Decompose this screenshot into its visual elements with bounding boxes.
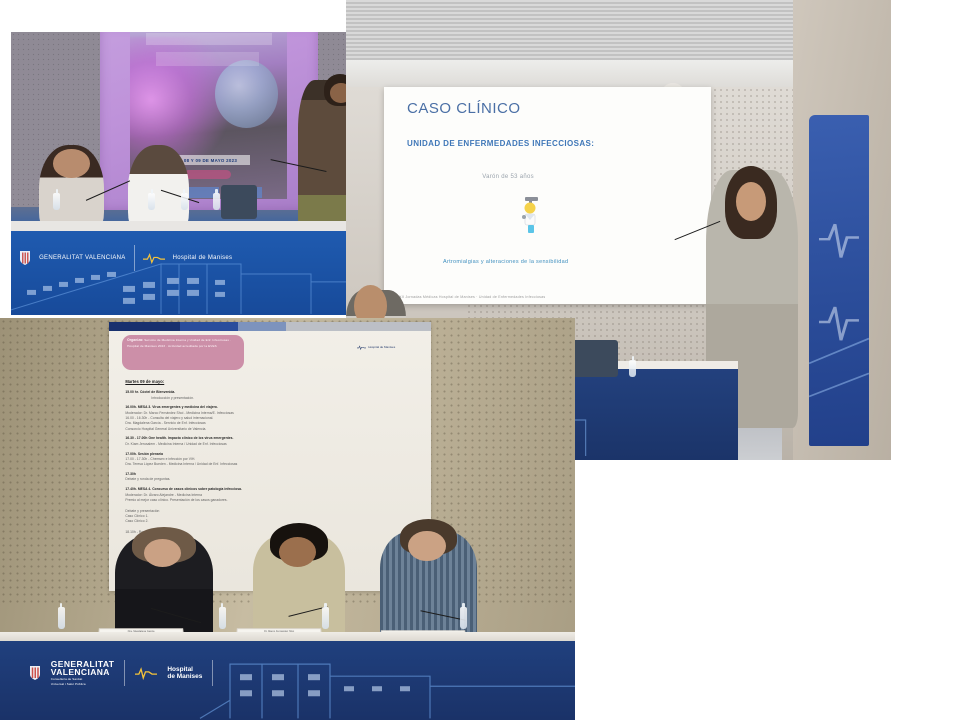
document-hospital-logo: Hospital de Manises: [357, 338, 415, 357]
heartbeat-icon: [357, 344, 366, 351]
program-entry-title: MESA 4. Concurso de casos clínicos sobre…: [138, 487, 242, 491]
hospital-logo-text: Hospital de Manises: [173, 255, 233, 261]
logo-divider-1: [124, 660, 125, 686]
banner-logos: GENERALITAT VALENCIANA Conselleria de Sa…: [29, 657, 214, 689]
water-bottle-2: [148, 193, 155, 210]
program-entry-time: 17.30h: [125, 472, 136, 476]
water-bottle-1: [58, 607, 65, 629]
program-entry: 17.00h. Sesión plenaria17.00 - 17.30h - …: [125, 452, 415, 468]
poster-orb-graphic: [215, 60, 278, 128]
chair-back-1: [221, 185, 257, 219]
program-entry-title: Cóctel de Bienvenida.: [140, 390, 175, 394]
document-logo-text: Hospital de Manises: [368, 346, 395, 349]
panel-table-banner: GENERALITAT VALENCIANA Conselleria de Sa…: [0, 640, 575, 720]
photo-collage-canvas: 08 Y 09 DE MAYO 2023: [0, 0, 960, 720]
roll-up-banner: [809, 115, 869, 446]
program-entry-line: Introducción y presentación.: [125, 396, 415, 401]
presentation-screen: CASO CLÍNICO UNIDAD DE ENFERMEDADES INFE…: [384, 87, 711, 303]
logo-divider-2: [212, 660, 213, 686]
program-entry-list: 15.00 hr. Cóctel de Bienvenida.Introducc…: [125, 390, 415, 535]
table-banner-logos: GENERALITAT VALENCIANA Hospital de Manis…: [19, 244, 232, 273]
slide-title: CASO CLÍNICO: [407, 100, 521, 117]
hm-line2: de Manises: [167, 673, 202, 680]
standing-speaker-face: [736, 182, 766, 221]
organizer-note: Organiza: Servicio de Medicina Interna y…: [122, 335, 244, 370]
slide-subtitle: UNIDAD DE ENFERMEDADES INFECCIOSAS:: [407, 139, 594, 148]
poster-subtitle-band: [156, 52, 260, 66]
slide-footer-line: Artromialgias y alteraciones de la sensi…: [443, 259, 568, 265]
water-bottle-4: [213, 193, 220, 210]
program-entry-line: Debate y ronda de preguntas.: [125, 477, 415, 482]
panelist-face: [53, 149, 89, 178]
chair-back-2: [569, 340, 618, 377]
panelist-right-face: [408, 531, 445, 561]
water-bottle-1: [53, 193, 60, 210]
generalitat-logo-text: GENERALITAT VALENCIANA Conselleria de Sa…: [51, 660, 115, 687]
program-entry: 17.30h Debate y ronda de preguntas.: [125, 472, 415, 483]
program-entry-line: Consorcio Hospital General Universitario…: [125, 427, 415, 432]
logo-divider: [134, 245, 135, 271]
program-entry-title: Sesión plenaria: [138, 452, 163, 456]
banner-building-art: [809, 115, 869, 446]
generalitat-shield-icon: [19, 250, 31, 266]
poster-registration-badge: [184, 170, 231, 178]
program-entry-title: One health. Impacto clínico de los virus…: [148, 436, 233, 440]
program-entry: 15.00 hr. Cóctel de Bienvenida.Introducc…: [125, 390, 415, 401]
gv-line2: VALENCIANA: [51, 668, 115, 677]
water-bottle-3: [181, 193, 188, 210]
program-entry: 16.30 - 17.00h One health. Impacto clíni…: [125, 436, 415, 447]
poster-title-band: [146, 33, 272, 45]
doctor-illustration-icon: [518, 195, 544, 235]
water-bottle-3: [322, 607, 329, 629]
hospital-logo-text: Hospital de Manises: [167, 666, 202, 680]
program-entry-title: MESA 3. Virus emergentes y medicina del …: [138, 405, 218, 409]
program-entry-time: 17.00h.: [125, 452, 137, 456]
organizer-note-body: Servicio de Medicina Interna y Unidad de…: [127, 338, 231, 347]
program-day-heading: Martes 09 de mayo:: [125, 379, 415, 386]
organizer-note-title: Organiza:: [127, 338, 143, 342]
photo-bottom-panel[interactable]: Organiza: Servicio de Medicina Interna y…: [0, 318, 575, 720]
program-entry-time: 17.40h.: [125, 487, 137, 491]
gv-sub2: Universal i Salut Pública: [51, 683, 115, 687]
program-entry-line: Dra. Teresa López Bueden - Medicina Inte…: [125, 462, 415, 467]
slide-patient-line: Varón de 53 años: [482, 174, 534, 180]
slide-credit-line: XXXII Jornadas Médicas Hospital de Manis…: [394, 295, 545, 299]
program-entry-time: 16.30 - 17.00h: [125, 436, 147, 440]
heartbeat-icon: [143, 251, 165, 265]
program-entry-time: 16.00h.: [125, 405, 137, 409]
document-header-bar: [109, 322, 431, 331]
gv-logo-text: GENERALITAT VALENCIANA: [39, 255, 126, 261]
water-bottle-4: [460, 607, 467, 629]
program-entry-time: 15.00 hr.: [125, 390, 139, 394]
water-bottle-4: [629, 360, 636, 377]
program-entry-line: Dr. Kiam Jerusalem - Medicina Interna / …: [125, 442, 415, 447]
program-entry: 16.00h. MESA 3. Virus emergentes y medic…: [125, 405, 415, 432]
heartbeat-icon: [135, 666, 157, 680]
water-bottle-2: [219, 607, 226, 629]
hm-line1: Hospital: [167, 666, 202, 673]
generalitat-shield-icon: [29, 665, 41, 681]
